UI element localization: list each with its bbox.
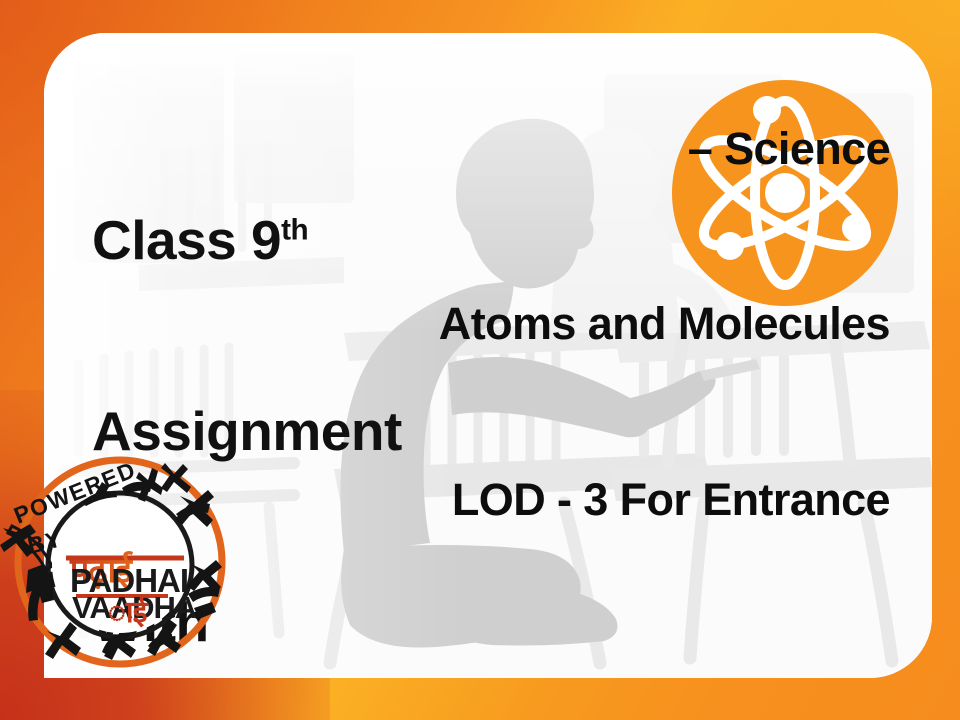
poster-canvas: Class 9th Assignment With Solutions xyxy=(0,0,960,720)
svg-text:ाई: ाई xyxy=(108,594,149,629)
subtitle-line-level: LOD - 3 For Entrance xyxy=(439,471,890,530)
headline-class-text: Class 9 xyxy=(92,209,281,271)
padhai-vaadha-logo-icon[interactable]: पढ़ाई PADHAI VAADHA ाई POWERED BY xyxy=(0,440,242,678)
poster-subtitle: – Science Atoms and Molecules LOD - 3 Fo… xyxy=(439,33,890,646)
subtitle-line-subject: – Science xyxy=(439,120,890,179)
headline-line-1: Class 9th xyxy=(92,209,402,273)
headline-ordinal-suffix: th xyxy=(281,213,308,246)
subtitle-line-chapter: Atoms and Molecules xyxy=(439,295,890,354)
